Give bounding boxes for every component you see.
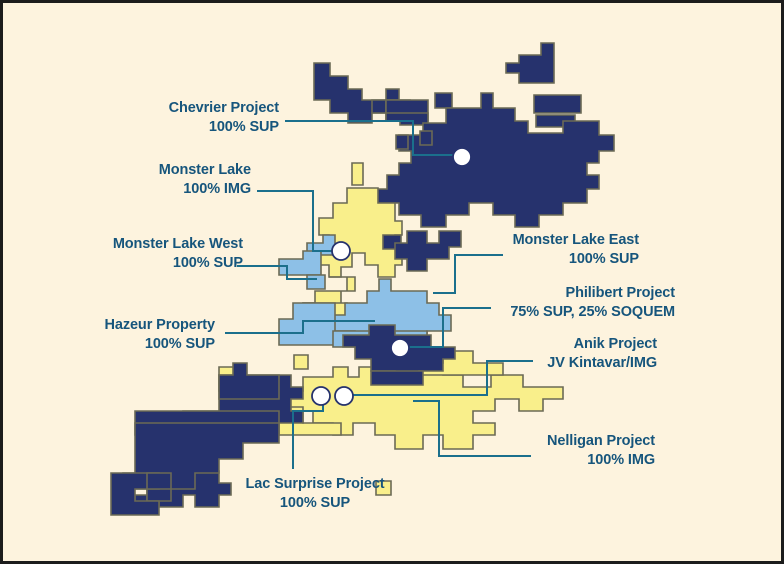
label-monster-lake: Monster Lake 100% IMG (19, 161, 251, 199)
label-monster-lake-east-stake: 100% SUP (443, 250, 639, 269)
monster-lake-west-block-b (279, 251, 321, 275)
label-philibert-project: Philibert Project 75% SUP, 25% SOQUEM (423, 284, 675, 322)
lac-surprise-notch (147, 473, 171, 489)
label-philibert-project-name: Philibert Project (423, 284, 675, 303)
chevrier-detached-block (435, 93, 452, 108)
chevrier-notch-b (396, 135, 408, 149)
label-hazeur-property: Hazeur Property 100% SUP (19, 316, 215, 354)
label-chevrier-project-stake: 100% SUP (19, 118, 279, 137)
monster-lake-north-finger (352, 163, 363, 185)
chevrier-nw-bar-a (372, 100, 386, 113)
label-anik-project: Anik Project JV Kintavar/IMG (455, 335, 657, 373)
label-hazeur-property-stake: 100% SUP (19, 335, 215, 354)
label-anik-project-stake: JV Kintavar/IMG (455, 354, 657, 373)
chevrier-notch-a (420, 131, 432, 145)
chevrier-mid-bar-step (386, 113, 428, 125)
label-chevrier-project: Chevrier Project 100% SUP (19, 99, 279, 137)
monster-lake-west-block-c (307, 275, 325, 289)
isolated-yellow-square-mid (294, 355, 308, 369)
deposit-marker-chevrier[interactable] (453, 148, 471, 166)
label-philibert-project-stake: 75% SUP, 25% SOQUEM (423, 303, 675, 322)
map-figure: Chevrier Project 100% SUP Monster Lake 1… (0, 0, 784, 564)
label-monster-lake-east: Monster Lake East 100% SUP (443, 231, 639, 269)
chevrier-northeast-block-a (506, 43, 554, 83)
label-chevrier-project-name: Chevrier Project (19, 99, 279, 118)
hazeur-west-lobe (279, 303, 335, 345)
label-monster-lake-west-name: Monster Lake West (19, 235, 243, 254)
label-monster-lake-east-name: Monster Lake East (443, 231, 639, 250)
chevrier-northeast-block-b (534, 95, 581, 113)
label-monster-lake-stake: 100% IMG (19, 180, 251, 199)
label-lac-surprise-project: Lac Surprise Project 100% SUP (215, 475, 415, 513)
deposit-marker-anik[interactable] (391, 339, 409, 357)
label-lac-surprise-project-stake: 100% SUP (215, 494, 415, 513)
label-nelligan-project: Nelligan Project 100% IMG (455, 432, 655, 470)
label-nelligan-project-name: Nelligan Project (455, 432, 655, 451)
label-lac-surprise-project-name: Lac Surprise Project (215, 475, 415, 494)
label-hazeur-property-name: Hazeur Property (19, 316, 215, 335)
label-nelligan-project-stake: 100% IMG (455, 451, 655, 470)
label-monster-lake-west-stake: 100% SUP (19, 254, 243, 273)
label-monster-lake-west: Monster Lake West 100% SUP (19, 235, 243, 273)
deposit-marker-lac-surprise[interactable] (312, 387, 330, 405)
label-monster-lake-name: Monster Lake (19, 161, 251, 180)
deposit-marker-monster-lake[interactable] (332, 242, 350, 260)
anik-south-tail (371, 371, 423, 385)
deposit-marker-nelligan[interactable] (335, 387, 353, 405)
label-anik-project-name: Anik Project (455, 335, 657, 354)
